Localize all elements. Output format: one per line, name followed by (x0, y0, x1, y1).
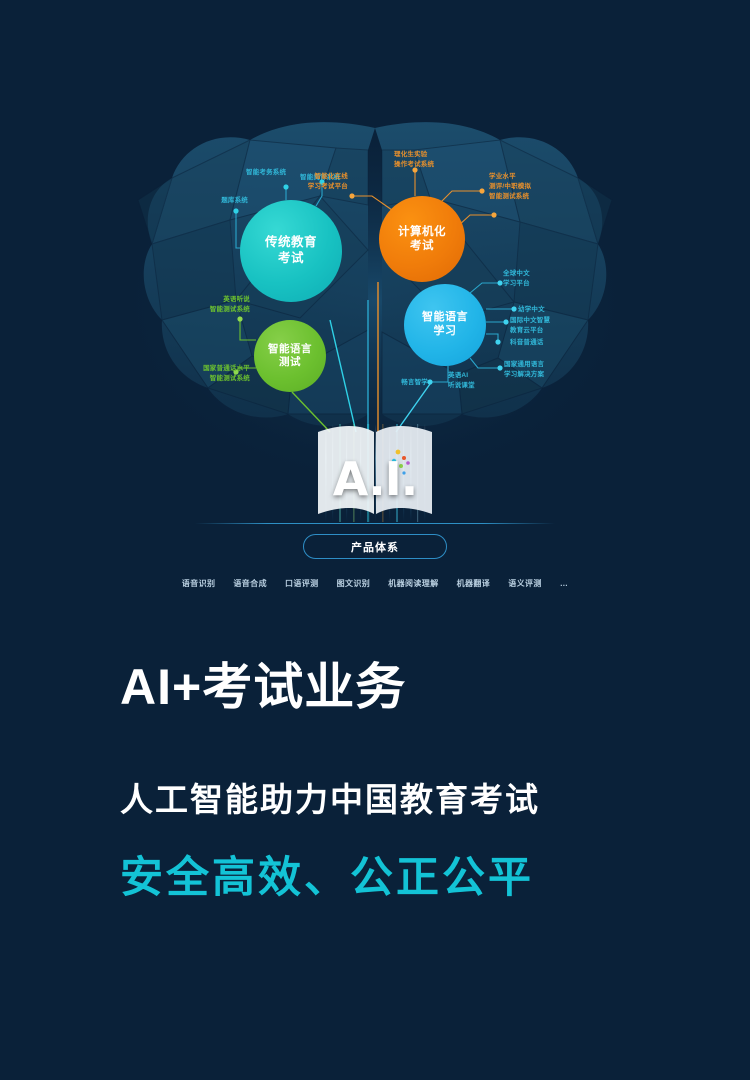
tag-item[interactable]: 图文识别 (337, 578, 371, 589)
node-label-line1: 智能语言 (268, 343, 312, 356)
ai-logo-wordmark: A.I. (316, 448, 434, 510)
leaf-label-putonghua-test: 国家普通话水平 智能测试系统 (182, 364, 250, 384)
node-intelligent-language-testing[interactable]: 智能语言 测试 (254, 320, 326, 392)
tag-item[interactable]: 语音识别 (182, 578, 216, 589)
leaf-label-changyan-zhixue: 畅言智学 (386, 378, 428, 388)
leaf-label-xueye: 学业水平 测评/中职模拟 智能测试系统 (489, 172, 559, 201)
node-intelligent-language-learning[interactable]: 智能语言 学习 (404, 284, 486, 366)
product-system-pill[interactable]: 产品体系 (303, 534, 447, 559)
node-traditional-education-exam[interactable]: 传统教育 考试 (240, 200, 342, 302)
page-root: 传统教育 考试 计算机化 考试 智能语言 学习 智能语言 测试 题库系统 智能考… (0, 0, 750, 1080)
leaf-label-english-ai-class: 英语AI 听说课堂 (448, 371, 492, 391)
leaf-label-online-platform: 智能化在线 学习考试平台 (282, 172, 348, 192)
tag-item[interactable]: 机器翻译 (457, 578, 491, 589)
page-title: AI+考试业务 (120, 660, 750, 715)
leaf-label-youxue-chinese: 幼学中文 (518, 305, 578, 315)
page-slogan: 安全高效、公正公平 (120, 843, 750, 905)
leaf-label-national-language: 国家通用语言 学习解决方案 (504, 360, 570, 380)
leaf-label-keyin-putonghua: 科音普通话 (510, 338, 572, 348)
leaf-label-english-listen: 英语听说 智能测试系统 (190, 295, 250, 315)
node-label-line1: 传统教育 (265, 235, 317, 251)
leaf-label-tiku: 题库系统 (198, 196, 248, 206)
node-label-line1: 智能语言 (422, 311, 468, 325)
leaf-label-global-chinese: 全球中文 学习平台 (503, 269, 563, 289)
headings-block: AI+考试业务 人工智能助力中国教育考试 安全高效、公正公平 (0, 660, 750, 905)
node-label-line2: 测试 (279, 356, 301, 369)
node-label-line2: 考试 (410, 239, 434, 253)
node-label-line2: 学习 (434, 325, 457, 339)
tag-item[interactable]: 机器阅读理解 (388, 578, 438, 589)
tag-item[interactable]: 口语评测 (285, 578, 319, 589)
capability-tag-row: 语音识别 语音合成 口语评测 图文识别 机器阅读理解 机器翻译 语义评测 … (0, 578, 750, 589)
page-subtitle: 人工智能助力中国教育考试 (120, 773, 750, 821)
tag-item[interactable]: 语音合成 (233, 578, 267, 589)
node-computerized-exam[interactable]: 计算机化 考试 (379, 196, 465, 282)
tag-item-ellipsis: … (560, 579, 568, 588)
node-label-line2: 考试 (278, 251, 304, 267)
node-label-line1: 计算机化 (398, 225, 446, 239)
leaf-label-lab-exam: 理化生实验 操作考试系统 (394, 150, 460, 170)
baseline-divider (195, 523, 555, 524)
leaf-label-intl-chinese-cloud: 国际中文智慧 教育云平台 (510, 316, 576, 336)
tag-item[interactable]: 语义评测 (508, 578, 542, 589)
brain-diagram: 传统教育 考试 计算机化 考试 智能语言 学习 智能语言 测试 题库系统 智能考… (0, 0, 750, 640)
